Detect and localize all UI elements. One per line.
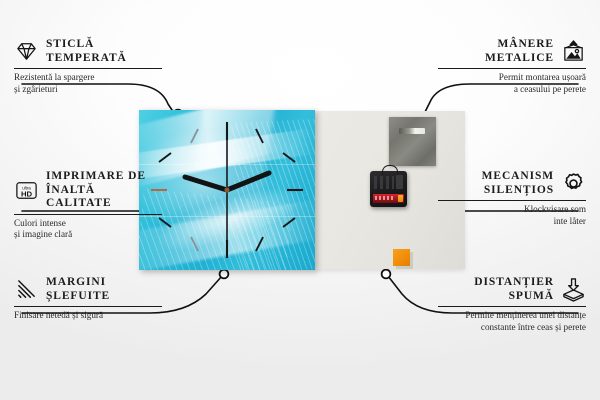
feature-title: IMPRIMARE DE ÎNALTĂ CALITATE [46,170,162,211]
diamond-icon [14,39,39,64]
feature-header: STICLĂ TEMPERATĂ [14,38,162,65]
divider [14,214,162,215]
hanger-loop [382,165,398,175]
divider [438,200,586,201]
feature-title: MÂNERE METALICE [485,38,554,65]
feature-metal-handles[interactable]: MÂNERE METALICE Permit montarea ușoară a… [438,38,586,95]
feature-title: MECANISM SILENȚIOS [482,170,554,197]
svg-text:HD: HD [21,189,33,198]
feature-header: MARGINI ȘLEFUITE [14,276,162,303]
feature-hd-print[interactable]: ultra HD IMPRIMARE DE ÎNALTĂ CALITATE Cu… [14,170,162,241]
tick-4 [283,218,295,227]
tick-11 [191,129,198,143]
feature-tempered-glass[interactable]: STICLĂ TEMPERATĂ Rezistentă la spargere … [14,38,162,95]
polished-edges-icon [14,277,39,302]
clock-center-cap [224,187,229,192]
feature-title: MARGINI ȘLEFUITE [46,276,110,303]
tick-7 [191,237,198,251]
foam-spacer-pad [393,249,410,266]
movement-vents [374,176,394,189]
feature-header: MECANISM SILENȚIOS [438,170,586,197]
feature-desc: Finisare netedă și sigură [14,310,162,321]
feature-desc: Klockvisare som inte låter [438,204,586,227]
divider [438,68,586,69]
battery [373,194,404,203]
feature-desc: Culori intense și imagine clară [14,218,162,241]
feature-title: DISTANȚIER SPUMĂ [474,276,554,303]
feature-title: STICLĂ TEMPERATĂ [46,38,127,65]
divider [14,68,162,69]
hanger-slot [399,128,425,134]
battery-label [375,196,395,200]
tick-1 [256,129,263,143]
hour-hand [227,173,269,190]
feature-desc: Permite menținerea unei distanțe constan… [438,310,586,333]
feature-foam-spacer[interactable]: DISTANȚIER SPUMĂ Permite menținerea unei… [438,276,586,333]
clock-movement-mechanism [370,171,407,207]
callout-dot-foam-spacer [382,270,391,279]
movement-chip [396,175,403,189]
gear-icon [561,171,586,196]
feature-header: MÂNERE METALICE [438,38,586,65]
arrow-down-layer-icon [561,277,586,302]
ultra-hd-icon: ultra HD [14,178,39,203]
feature-header: DISTANȚIER SPUMĂ [438,276,586,303]
metal-hanger-plate [389,117,436,166]
divider [14,306,162,307]
divider [438,306,586,307]
clock-glass-panel [139,110,315,270]
tick-2 [283,153,295,162]
clock-face [139,110,315,270]
minute-hand [185,177,227,190]
tick-10 [159,153,171,162]
callout-dot-polished-edges [220,270,229,279]
wall-mount-picture-icon [561,39,586,64]
tick-5 [256,237,263,251]
feature-silent-mechanism[interactable]: MECANISM SILENȚIOS Klockvisare som inte … [438,170,586,227]
infographic-canvas: STICLĂ TEMPERATĂ Rezistentă la spargere … [0,0,600,400]
feature-polished-edges[interactable]: MARGINI ȘLEFUITE Finisare netedă și sigu… [14,276,162,322]
feature-desc: Permit montarea ușoară a ceasului pe per… [438,72,586,95]
feature-header: ultra HD IMPRIMARE DE ÎNALTĂ CALITATE [14,170,162,211]
feature-desc: Rezistentă la spargere și zgârieturi [14,72,162,95]
